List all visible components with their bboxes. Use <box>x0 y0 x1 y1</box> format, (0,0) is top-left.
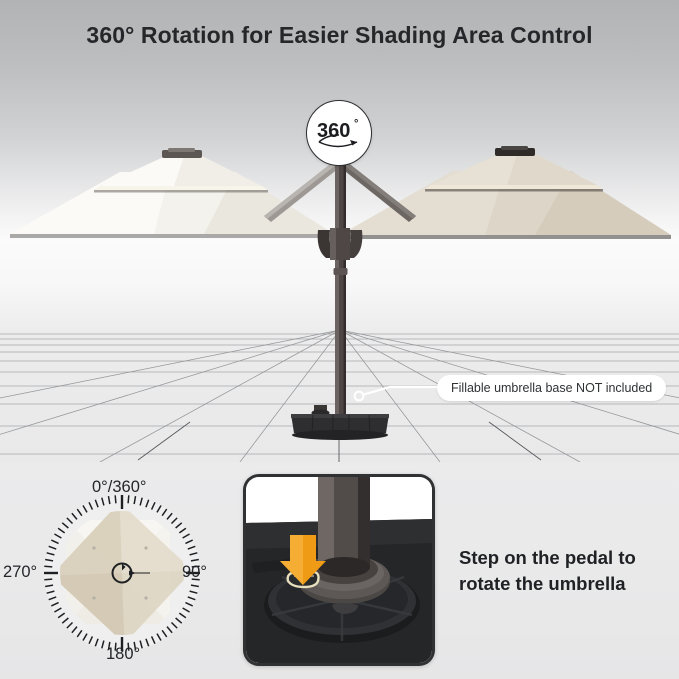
callout-base-not-included: Fillable umbrella base NOT included <box>437 375 666 401</box>
compass-label-270: 270° <box>3 563 37 582</box>
instruction-line-1: Step on the pedal to <box>459 545 674 571</box>
compass-minor-tick <box>44 579 52 580</box>
umbrella-base <box>287 405 393 441</box>
compass-label-0-360: 0°/360° <box>92 478 147 497</box>
callout-text: Fillable umbrella base NOT included <box>451 381 652 395</box>
umbrella-pole <box>320 150 360 416</box>
infographic-root: 360° Rotation for Easier Shading Area Co… <box>0 0 679 679</box>
pedal-photo-frame <box>246 477 432 663</box>
instruction-text: Step on the pedal to rotate the umbrella <box>459 545 674 596</box>
compass-label-180: 180° <box>106 645 140 664</box>
pedal-photo-inset <box>243 474 435 666</box>
callout-leader-line <box>350 378 445 404</box>
rotation-hub <box>310 228 370 262</box>
compass-label-90: 90° <box>182 563 207 582</box>
page-title: 360° Rotation for Easier Shading Area Co… <box>0 22 679 49</box>
rotation-360-badge: 360 ° <box>306 100 372 166</box>
product-scene: 360° Rotation for Easier Shading Area Co… <box>0 0 679 462</box>
instruction-line-2: rotate the umbrella <box>459 571 674 597</box>
badge-degree: ° <box>354 118 358 130</box>
badge-number: 360 <box>317 120 350 142</box>
compass-minor-tick <box>44 566 52 567</box>
